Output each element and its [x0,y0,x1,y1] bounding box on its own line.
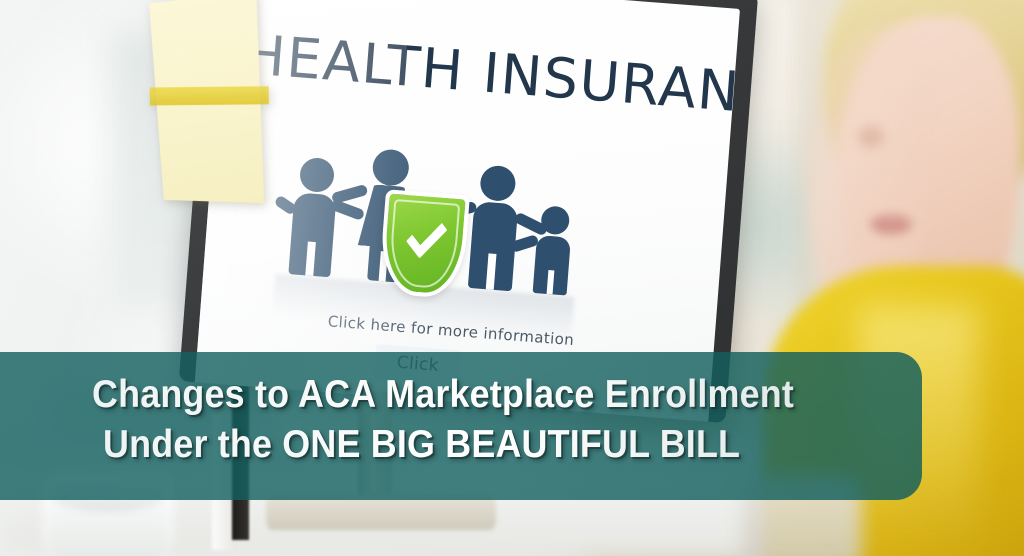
figure-adult-right [461,164,528,292]
person-lips [870,214,912,234]
sticky-note-tape [150,86,269,105]
title-banner: Changes to ACA Marketplace Enrollment Un… [0,352,922,500]
figure-head [540,205,570,235]
person-nose [858,126,884,148]
figure-head [299,157,336,194]
screen-headline: HEALTH INSURANCE [242,27,725,119]
figure-adult-left [281,156,346,278]
figure-child-right [527,205,580,296]
scene-root: HEALTH INSURANCE [0,0,1024,556]
figure-head [479,165,517,203]
figure-head [371,148,410,187]
banner-title-line-1: Changes to ACA Marketplace Enrollment [92,370,835,420]
banner-title-line-2: Under the ONE BIG BEAUTIFUL BILL [92,420,835,470]
sticky-note [147,0,268,209]
banner-title: Changes to ACA Marketplace Enrollment Un… [92,370,835,470]
